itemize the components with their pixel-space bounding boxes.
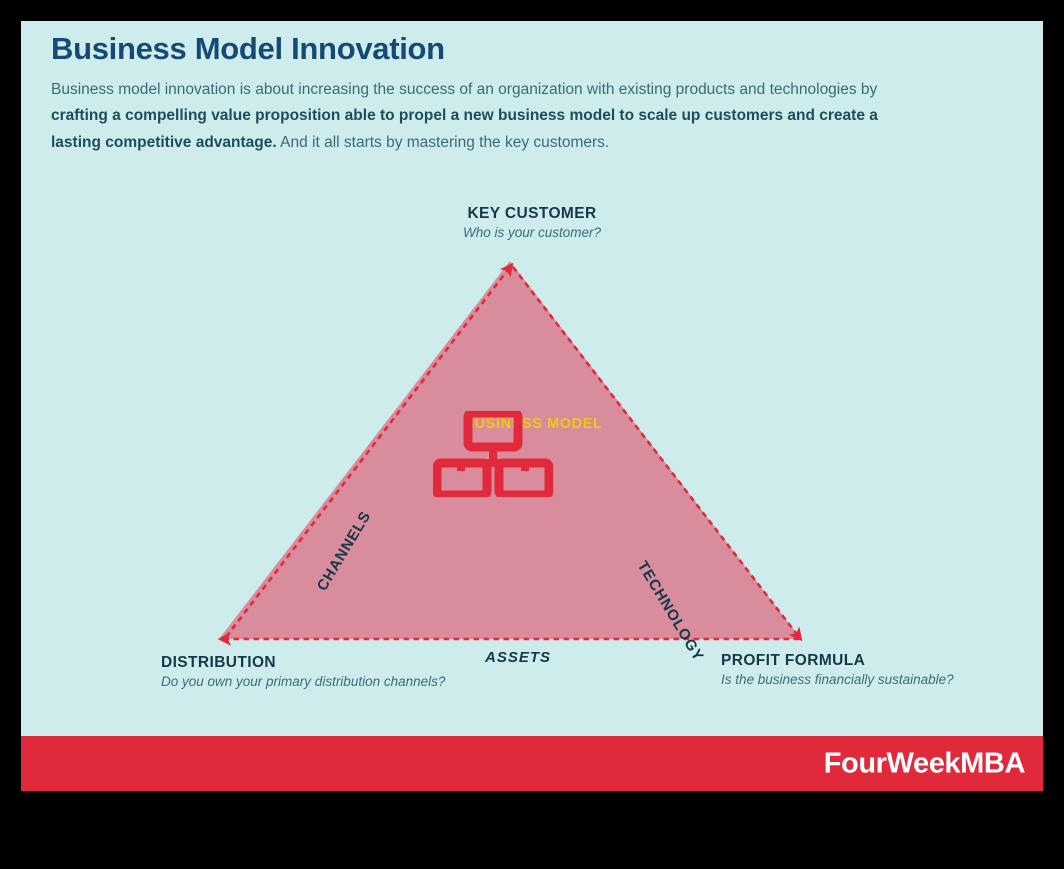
vertex-key-customer-question: Who is your customer? — [21, 225, 1043, 240]
vertex-key-customer[interactable]: KEY CUSTOMER Who is your customer? — [21, 205, 1043, 240]
triangle-diagram: KEY CUSTOMER Who is your customer? DISTR… — [21, 171, 1043, 731]
edge-label-assets: ASSETS — [485, 649, 551, 666]
slide-canvas: Business Model Innovation Business model… — [21, 21, 1043, 791]
intro-text-part1: Business model innovation is about incre… — [51, 81, 877, 98]
center-business-model[interactable]: BUSINESS MODEL — [433, 411, 633, 432]
vertex-profit-formula[interactable]: PROFIT FORMULA Is the business financial… — [721, 652, 1041, 687]
vertex-profit-formula-question: Is the business financially sustainable? — [721, 672, 1041, 687]
vertex-distribution-question: Do you own your primary distribution cha… — [161, 674, 581, 689]
header: Business Model Innovation Business model… — [51, 31, 951, 157]
org-chart-icon — [433, 411, 553, 497]
brand-logo: FourWeekMBA — [824, 747, 1025, 780]
page-title: Business Model Innovation — [51, 31, 951, 67]
vertex-profit-formula-label: PROFIT FORMULA — [721, 652, 1041, 670]
intro-text-part2: And it all starts by mastering the key c… — [277, 134, 610, 151]
intro-paragraph: Business model innovation is about incre… — [51, 77, 931, 157]
vertex-key-customer-label: KEY CUSTOMER — [21, 205, 1043, 223]
footer-bar: FourWeekMBA — [21, 736, 1043, 791]
